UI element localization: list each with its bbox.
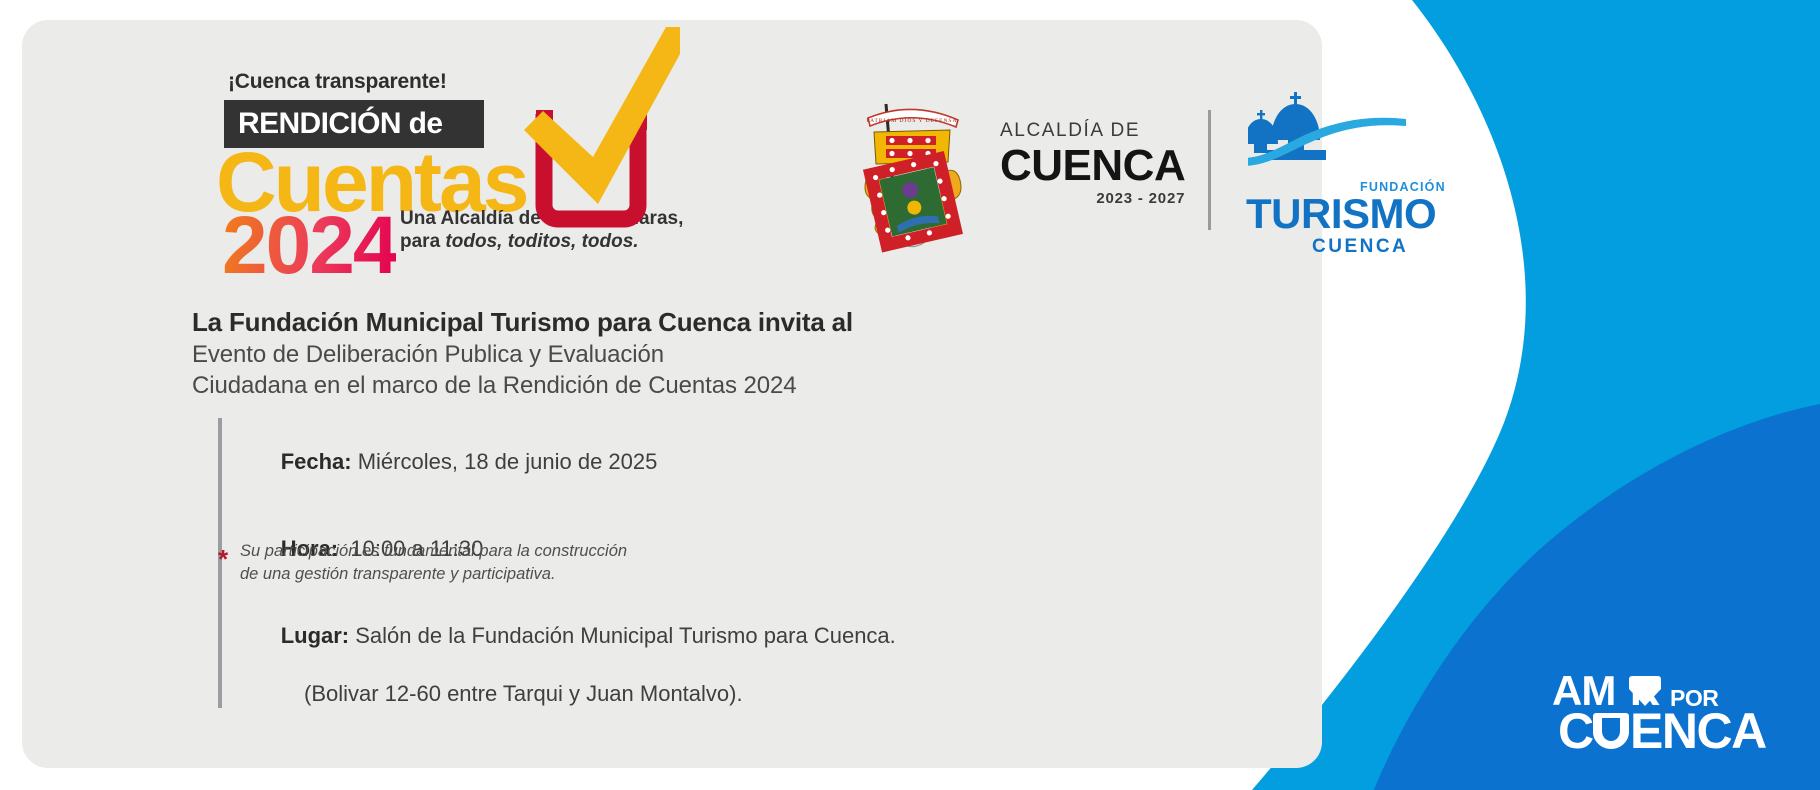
alcaldia-cuenca-wordmark: ALCALDÍA DE CUENCA 2023 - 2027 (1000, 120, 1185, 207)
fundacion-turismo-logo: FUNDACIÓN TURISMO CUENCA (1248, 88, 1438, 263)
detail-label-lugar: Lugar: (281, 623, 349, 648)
alcaldia-line-2: CUENCA (1000, 142, 1185, 190)
logo-tagline-line2-prefix: para (400, 231, 445, 252)
svg-text:PATRIAM DIOS Y DEFENSA: PATRIAM DIOS Y DEFENSA (867, 118, 958, 124)
poster-canvas: ¡Cuenca transparente! RENDICIÓN de Cuent… (0, 0, 1820, 790)
turismo-line-cuenca: CUENCA (1312, 236, 1408, 258)
detail-row-lugar: Lugar: Salón de la Fundación Municipal T… (244, 592, 896, 679)
logo-claim-text: ¡Cuenca transparente! (228, 70, 447, 94)
detail-value-fecha: Miércoles, 18 de junio de 2025 (352, 449, 658, 474)
svg-text:C: C (1558, 703, 1593, 754)
logo-divider (1208, 110, 1211, 230)
cuenca-cathedral-domes-icon (1248, 88, 1438, 193)
alcaldia-period: 2023 - 2027 (1000, 190, 1185, 207)
detail-row-fecha: Fecha: Miércoles, 18 de junio de 2025 (244, 418, 896, 505)
invitation-subline-2: Ciudadana en el marco de la Rendición de… (192, 370, 1072, 401)
detail-value-lugar: Salón de la Fundación Municipal Turismo … (349, 623, 896, 648)
institutional-logos: PATRIAM DIOS Y DEFENSA (830, 88, 1250, 263)
logo-tagline-line2-italic: todos, toditos, todos. (445, 231, 638, 252)
detail-label-fecha: Fecha: (281, 449, 352, 474)
svg-text:ENCA: ENCA (1630, 703, 1766, 754)
invitation-subline-1: Evento de Deliberación Publica y Evaluac… (192, 339, 1072, 370)
note-line-2: de una gestión transparente y participat… (240, 565, 556, 583)
invitation-headline: La Fundación Municipal Turismo para Cuen… (192, 305, 1072, 339)
checkbox-check-icon (460, 10, 680, 230)
note-asterisk-icon: * (218, 544, 228, 575)
cuenca-coat-of-arms-icon: PATRIAM DIOS Y DEFENSA (852, 96, 972, 256)
note-line-1: Su participación es fundamental para la … (240, 542, 627, 560)
alcaldia-line-1: ALCALDÍA DE (1000, 120, 1185, 142)
logo-year-2024: 2024 (222, 205, 396, 287)
detail-address-continued: (Bolivar 12-60 entre Tarqui y Juan Monta… (244, 679, 896, 708)
note-text: Su participación es fundamental para la … (240, 540, 738, 586)
turismo-line-turismo: TURISMO (1246, 192, 1436, 236)
amor-por-cuenca-logo: AM R POR C ENCA (1552, 668, 1802, 754)
invitation-text-block: La Fundación Municipal Turismo para Cuen… (192, 305, 1072, 401)
participation-note: * Su participación es fundamental para l… (218, 540, 738, 586)
